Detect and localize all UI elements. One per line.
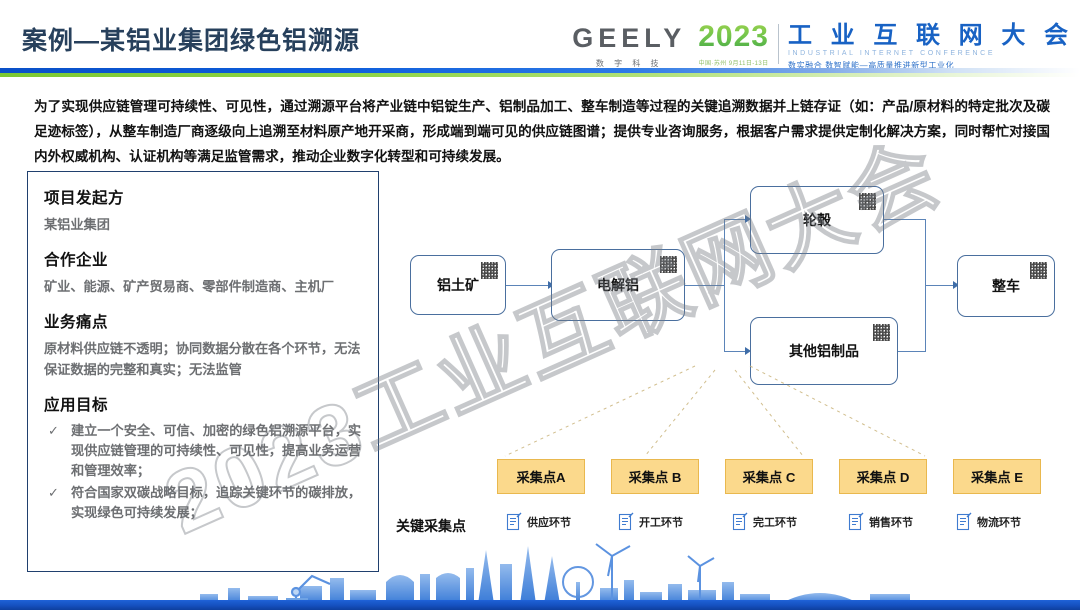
link-electro-split <box>685 285 725 286</box>
legend-item-label: 开工环节 <box>639 514 683 530</box>
legend-item-label: 物流环节 <box>977 514 1021 530</box>
year-logo: 2023 中国·苏州 9月11日-13日 <box>698 22 769 67</box>
link-bauxite-to-electro <box>505 285 551 286</box>
flow-node-bauxite[interactable]: 铝土矿 <box>410 255 506 315</box>
flow-node-label: 铝土矿 <box>437 275 479 295</box>
logo-divider <box>778 24 779 64</box>
project-info-card: 项目发起方 某铝业集团 合作企业 矿业、能源、矿产贸易商、零部件制造商、主机厂 … <box>27 171 379 572</box>
legend-lead-label: 关键采集点 <box>396 516 466 536</box>
legend-item-label: 销售环节 <box>869 514 913 530</box>
supply-chain-flow-diagram: 铝土矿 电解铝 轮毂 其他铝制品 整车 <box>395 186 1065 386</box>
collection-point-c[interactable]: 采集点 C <box>725 459 813 494</box>
legend-item-label: 完工环节 <box>753 514 797 530</box>
card-body-painpoints: 原材料供应链不透明；协同数据分散在各个环节，无法保证数据的完整和真实；无法监管 <box>44 338 362 380</box>
legend-item-logistics[interactable]: 物流环节 <box>956 512 1021 531</box>
year-venue-date: 中国·苏州 9月11日-13日 <box>698 58 769 67</box>
goal-item: ✓ 建立一个安全、可信、加密的绿色铝溯源平台，实现供应链管理的可持续性、可见性，… <box>44 421 362 481</box>
flow-node-label: 轮毂 <box>803 210 831 230</box>
legend-item-startwork[interactable]: 开工环节 <box>618 512 683 531</box>
conference-name-block: 工 业 互 联 网 大 会 INDUSTRIAL INTERNET CONFER… <box>788 22 1074 71</box>
year-number: 2023 <box>698 22 769 52</box>
document-pen-icon <box>506 512 522 531</box>
goal-text: 符合国家双碳战略目标，追踪关键环节的碳排放，实现绿色可持续发展； <box>71 485 361 520</box>
collection-point-e[interactable]: 采集点 E <box>953 459 1041 494</box>
conference-name-en: INDUSTRIAL INTERNET CONFERENCE <box>788 50 1074 57</box>
qr-code-icon <box>481 262 498 279</box>
collection-point-d[interactable]: 采集点 D <box>839 459 927 494</box>
qr-code-icon <box>859 193 876 210</box>
goals-list: ✓ 建立一个安全、可信、加密的绿色铝溯源平台，实现供应链管理的可持续性、可见性，… <box>44 421 362 523</box>
goal-item: ✓ 符合国家双碳战略目标，追踪关键环节的碳排放，实现绿色可持续发展； <box>44 483 362 523</box>
geely-wordmark: GEELY <box>572 25 686 52</box>
link-hub-merge <box>884 219 926 220</box>
card-heading-partners: 合作企业 <box>44 248 362 270</box>
document-pen-icon <box>848 512 864 531</box>
card-body-partners: 矿业、能源、矿产贸易商、零部件制造商、主机厂 <box>44 276 362 297</box>
conference-name-cn: 工 业 互 联 网 大 会 <box>788 23 1074 48</box>
flow-node-electrolytic-aluminum[interactable]: 电解铝 <box>551 249 685 321</box>
intro-paragraph: 为了实现供应链管理可持续性、可见性，通过溯源平台将产业链中铝锭生产、铝制品加工、… <box>34 94 1050 169</box>
legend-item-label: 供应环节 <box>527 514 571 530</box>
legend-item-finishwork[interactable]: 完工环节 <box>732 512 797 531</box>
card-body-initiator: 某铝业集团 <box>44 214 362 235</box>
robot-arm-icon <box>286 576 330 604</box>
slide-canvas: 案例—某铝业集团绿色铝溯源 GEELY 数 字 科 技 2023 中国·苏州 9… <box>0 0 1080 610</box>
flow-node-wheel-hub[interactable]: 轮毂 <box>750 186 884 254</box>
wind-turbine-icon <box>596 544 714 604</box>
goal-text: 建立一个安全、可信、加密的绿色铝溯源平台，实现供应链管理的可持续性、可见性，提高… <box>71 423 361 478</box>
flow-node-vehicle[interactable]: 整车 <box>957 255 1055 317</box>
card-heading-initiator: 项目发起方 <box>44 186 362 208</box>
collection-point-a[interactable]: 采集点A <box>497 459 585 494</box>
page-title: 案例—某铝业集团绿色铝溯源 <box>22 21 360 57</box>
header-divider-rule <box>0 68 1080 77</box>
flow-node-other-aluminum-products[interactable]: 其他铝制品 <box>750 317 898 385</box>
slide-header: 案例—某铝业集团绿色铝溯源 GEELY 数 字 科 技 2023 中国·苏州 9… <box>0 0 1080 86</box>
legend-item-supply[interactable]: 供应环节 <box>506 512 571 531</box>
collection-point-b[interactable]: 采集点 B <box>611 459 699 494</box>
card-heading-painpoints: 业务痛点 <box>44 310 362 332</box>
legend-row: 关键采集点 供应环节 开工环节 <box>396 512 1056 542</box>
collection-points-row: 采集点A 采集点 B 采集点 C 采集点 D 采集点 E <box>497 459 1057 497</box>
document-pen-icon <box>732 512 748 531</box>
flow-node-label: 其他铝制品 <box>789 341 859 361</box>
qr-code-icon <box>873 324 890 341</box>
check-icon: ✓ <box>48 421 59 441</box>
geely-logo: GEELY 数 字 科 技 <box>572 22 686 69</box>
rule-green-band <box>0 73 1080 77</box>
qr-code-icon <box>1030 262 1047 279</box>
document-pen-icon <box>618 512 634 531</box>
flow-node-label: 整车 <box>992 276 1020 296</box>
qr-code-icon <box>660 256 677 273</box>
link-split-vertical <box>724 219 725 352</box>
sea-band <box>0 600 1080 610</box>
conference-logo-lockup: GEELY 数 字 科 技 2023 中国·苏州 9月11日-13日 工 业 互… <box>572 22 1074 74</box>
legend-item-sales[interactable]: 销售环节 <box>848 512 913 531</box>
check-icon: ✓ <box>48 483 59 503</box>
flow-node-label: 电解铝 <box>597 275 639 295</box>
document-pen-icon <box>956 512 972 531</box>
card-heading-goals: 应用目标 <box>44 393 362 415</box>
